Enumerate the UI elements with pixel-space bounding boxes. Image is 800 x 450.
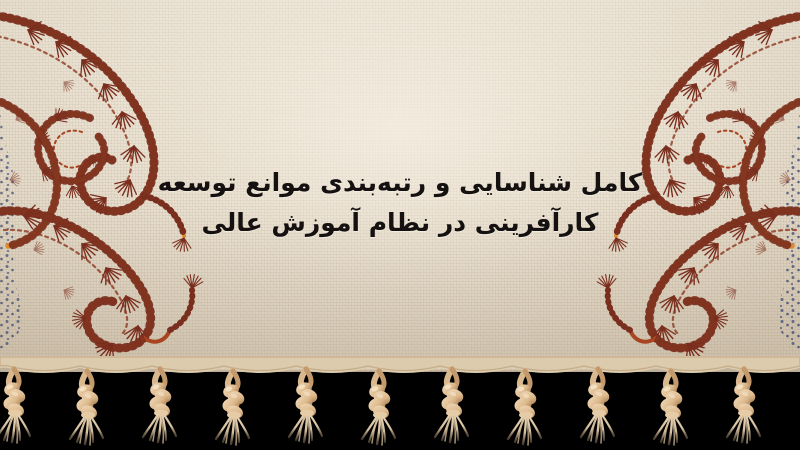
- title-line-2: کارآفرینی در نظام آموزش عالی: [0, 203, 800, 243]
- cloth-hem: [0, 356, 800, 372]
- title-card-canvas: کامل شناسایی و رتبه‌بندی موانع توسعه کار…: [0, 0, 800, 450]
- title-line-1: کامل شناسایی و رتبه‌بندی موانع توسعه: [0, 163, 800, 203]
- title-block: کامل شناسایی و رتبه‌بندی موانع توسعه کار…: [0, 163, 800, 243]
